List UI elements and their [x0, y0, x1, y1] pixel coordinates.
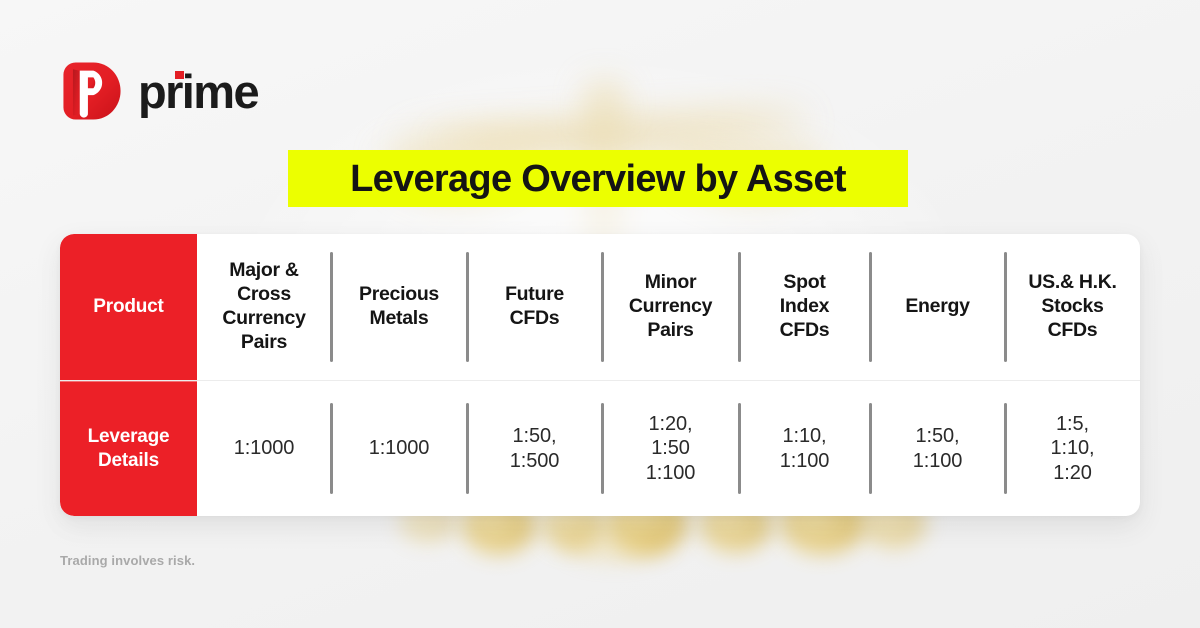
- page-title-banner: Leverage Overview by Asset: [288, 150, 908, 207]
- header-label: US.& H.K. Stocks CFDs: [1028, 271, 1116, 342]
- header-cell-future-cfds: Future CFDs: [467, 234, 602, 380]
- data-cell-future-cfds: 1:50, 1:500: [467, 381, 602, 516]
- brand-logo: prime: [58, 57, 258, 125]
- d-prime-logo-icon: [58, 57, 126, 125]
- row-label-product: Product: [60, 234, 197, 380]
- leverage-value: 1:50, 1:100: [913, 424, 963, 473]
- data-cell-precious-metals: 1:1000: [331, 381, 467, 516]
- brand-wordmark: prime: [138, 68, 258, 115]
- header-label: Precious Metals: [359, 283, 439, 331]
- brand-i-dot-icon: [175, 71, 184, 79]
- data-cell-spot-index-cfds: 1:10, 1:100: [739, 381, 870, 516]
- header-cell-major-cross-currency-pairs: Major & Cross Currency Pairs: [197, 234, 331, 380]
- data-cell-minor-currency-pairs: 1:20, 1:50 1:100: [602, 381, 739, 516]
- header-label: Major & Cross Currency Pairs: [222, 259, 305, 354]
- data-cell-major-cross-currency-pairs: 1:1000: [197, 381, 331, 516]
- header-cell-us-hk-stocks-cfds: US.& H.K. Stocks CFDs: [1005, 234, 1140, 380]
- leverage-value: 1:10, 1:100: [780, 424, 830, 473]
- header-label: Minor Currency Pairs: [629, 271, 712, 342]
- data-cell-energy: 1:50, 1:100: [870, 381, 1005, 516]
- header-cell-spot-index-cfds: Spot Index CFDs: [739, 234, 870, 380]
- header-cell-energy: Energy: [870, 234, 1005, 380]
- page-title: Leverage Overview by Asset: [350, 160, 846, 198]
- table-header-row: Product Major & Cross Currency Pairs Pre…: [60, 234, 1140, 380]
- leverage-value: 1:1000: [234, 436, 295, 460]
- leverage-value: 1:1000: [369, 436, 430, 460]
- brand-wordmark-text: prime: [138, 65, 258, 118]
- row-label-leverage-details: Leverage Details: [60, 381, 197, 516]
- leverage-table: Product Major & Cross Currency Pairs Pre…: [60, 234, 1140, 516]
- header-label: Energy: [905, 295, 969, 319]
- header-label: Future CFDs: [505, 283, 564, 331]
- header-cell-minor-currency-pairs: Minor Currency Pairs: [602, 234, 739, 380]
- header-cell-precious-metals: Precious Metals: [331, 234, 467, 380]
- leverage-value: 1:50, 1:500: [510, 424, 560, 473]
- header-label: Spot Index CFDs: [780, 271, 830, 342]
- risk-disclaimer: Trading involves risk.: [60, 553, 195, 568]
- data-cell-us-hk-stocks-cfds: 1:5, 1:10, 1:20: [1005, 381, 1140, 516]
- table-data-row: Leverage Details 1:1000 1:1000 1:50, 1:5…: [60, 380, 1140, 516]
- leverage-value: 1:5, 1:10, 1:20: [1051, 412, 1095, 485]
- leverage-value: 1:20, 1:50 1:100: [646, 412, 696, 485]
